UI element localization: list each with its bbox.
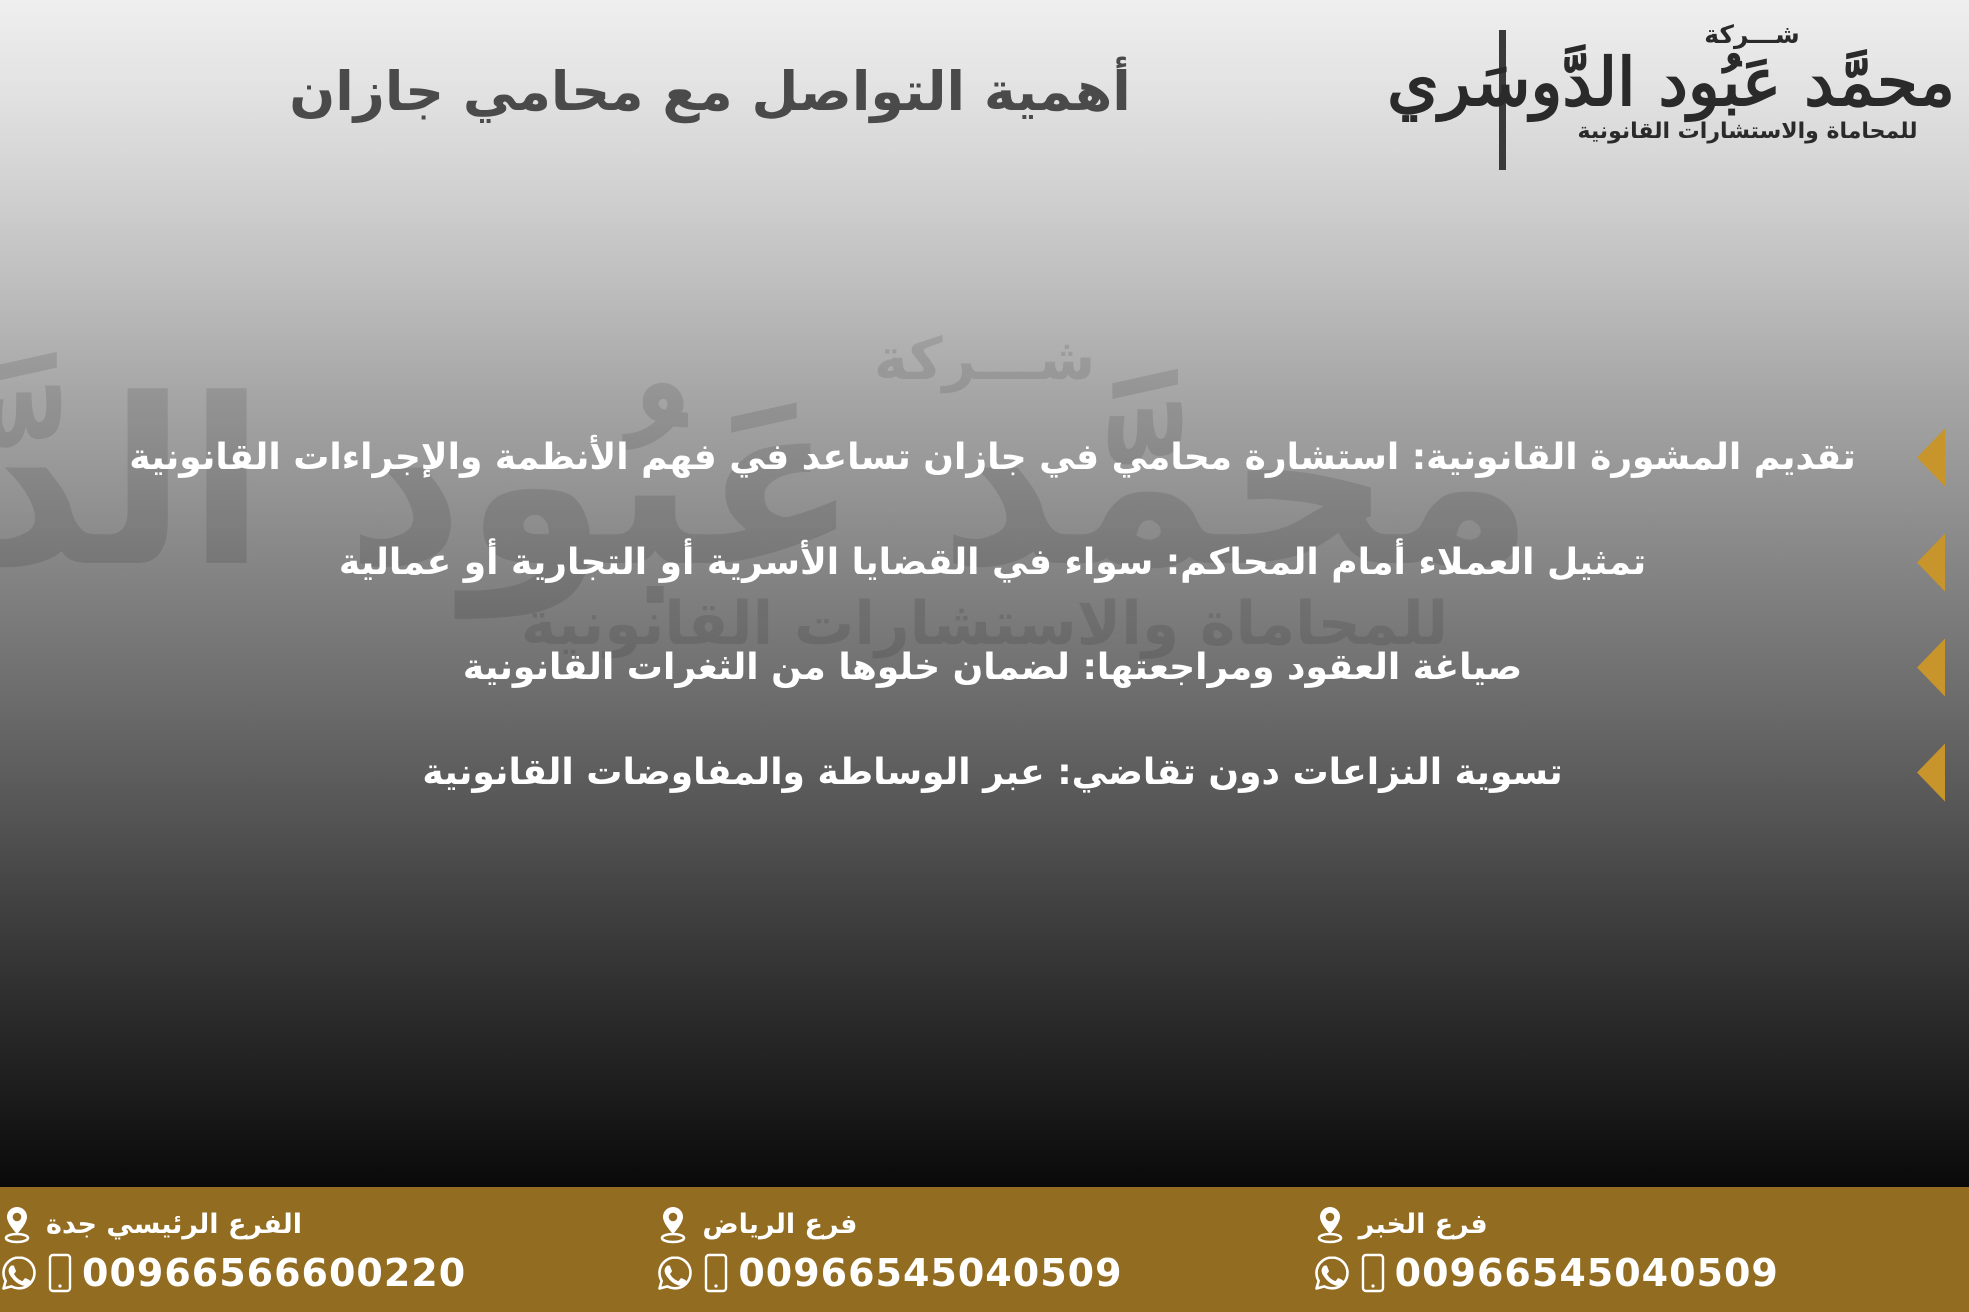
- triangle-left-icon: [1917, 744, 1945, 802]
- branch-phone-line[interactable]: 00966566600220: [0, 1251, 466, 1295]
- whatsapp-icon[interactable]: [656, 1254, 694, 1292]
- list-item: تقديم المشورة القانونية: استشارة محامي ف…: [0, 405, 1969, 510]
- branch-name-line: الفرع الرئيسي جدة: [0, 1205, 302, 1245]
- bullet-text: صياغة العقود ومراجعتها: لضمان خلوها من ا…: [40, 645, 1895, 690]
- footer-branch-riyadh: فرع الرياض 00966545040509: [656, 1187, 1312, 1312]
- branch-label: فرع الخبر: [1359, 1209, 1488, 1240]
- location-pin-icon: [656, 1205, 690, 1245]
- footer-contact-bar: فرع الخبر 00966545040509: [0, 1187, 1969, 1312]
- triangle-left-icon: [1917, 429, 1945, 487]
- triangle-left-icon: [1917, 534, 1945, 592]
- branch-phone-number: 00966566600220: [82, 1251, 466, 1295]
- page-title: أهمية التواصل مع محامي جازان: [0, 60, 1420, 123]
- watermark-prefix: شـــركة: [435, 330, 1535, 388]
- branch-phone-line[interactable]: 00966545040509: [1313, 1251, 1779, 1295]
- bullet-list: تقديم المشورة القانونية: استشارة محامي ف…: [0, 405, 1969, 825]
- header: أهمية التواصل مع محامي جازان شـــركة محم…: [0, 0, 1969, 185]
- branch-phone-number: 00966545040509: [738, 1251, 1122, 1295]
- mobile-phone-icon: [704, 1253, 728, 1293]
- location-pin-icon: [1313, 1205, 1347, 1245]
- branch-phone-line[interactable]: 00966545040509: [656, 1251, 1122, 1295]
- bullet-text: تسوية النزاعات دون تقاضي: عبر الوساطة وا…: [40, 750, 1895, 795]
- branch-label: الفرع الرئيسي جدة: [46, 1209, 302, 1240]
- footer-branch-jeddah: الفرع الرئيسي جدة 00966566600220: [0, 1187, 656, 1312]
- bullet-text: تمثيل العملاء أمام المحاكم: سواء في القض…: [40, 540, 1895, 585]
- footer-branch-khobar: فرع الخبر 00966545040509: [1313, 1187, 1969, 1312]
- poster-canvas: شـــركة محمَّد عَبُود الدَّوسَري للمحاما…: [0, 0, 1969, 1312]
- bullet-text: تقديم المشورة القانونية: استشارة محامي ف…: [40, 435, 1895, 480]
- list-item: تمثيل العملاء أمام المحاكم: سواء في القض…: [0, 510, 1969, 615]
- logo-tagline: للمحاماة والاستشارات القانونية: [1540, 121, 1955, 143]
- whatsapp-icon[interactable]: [0, 1254, 38, 1292]
- mobile-phone-icon: [1361, 1253, 1385, 1293]
- branch-name-line: فرع الخبر: [1313, 1205, 1488, 1245]
- logo-name: محمَّد عَبُود الدَّوسَري: [1540, 49, 1955, 115]
- brand-logo: شـــركة محمَّد عَبُود الدَّوسَري للمحاما…: [1540, 22, 1955, 143]
- mobile-phone-icon: [48, 1253, 72, 1293]
- branch-label: فرع الرياض: [702, 1209, 857, 1240]
- triangle-left-icon: [1917, 639, 1945, 697]
- branch-name-line: فرع الرياض: [656, 1205, 857, 1245]
- list-item: صياغة العقود ومراجعتها: لضمان خلوها من ا…: [0, 615, 1969, 720]
- whatsapp-icon[interactable]: [1313, 1254, 1351, 1292]
- location-pin-icon: [0, 1205, 34, 1245]
- branch-phone-number: 00966545040509: [1395, 1251, 1779, 1295]
- list-item: تسوية النزاعات دون تقاضي: عبر الوساطة وا…: [0, 720, 1969, 825]
